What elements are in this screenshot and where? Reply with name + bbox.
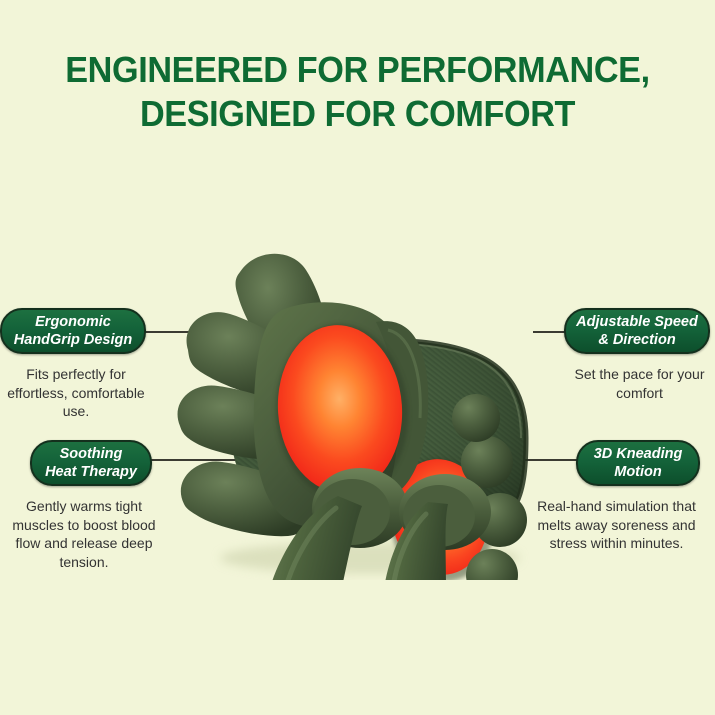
callout-label-heat[interactable]: Soothing Heat Therapy: [30, 440, 152, 486]
callout-label-handgrip[interactable]: Ergonomic HandGrip Design: [0, 308, 146, 354]
product-image-massage-pillow: [140, 190, 580, 580]
callout-speed: Adjustable Speed & Direction Set the pac…: [564, 308, 715, 402]
callout-heat: Soothing Heat Therapy Gently warms tight…: [18, 440, 152, 571]
callout-description-handgrip: Fits perfectly for effortless, comfortab…: [0, 365, 152, 421]
callout-label-kneading[interactable]: 3D Kneading Motion: [576, 440, 700, 486]
page-title: ENGINEERED FOR PERFORMANCE, DESIGNED FOR…: [0, 48, 715, 136]
callout-description-heat: Gently warms tight muscles to boost bloo…: [10, 497, 158, 571]
title-line-1: ENGINEERED FOR PERFORMANCE,: [18, 48, 697, 92]
callout-kneading: 3D Kneading Motion Real-hand simulation …: [576, 440, 706, 553]
callout-description-speed: Set the pace for your comfort: [564, 365, 715, 402]
callout-handgrip: Ergonomic HandGrip Design Fits perfectly…: [0, 308, 152, 421]
callout-label-speed[interactable]: Adjustable Speed & Direction: [564, 308, 710, 354]
infographic-root: ENGINEERED FOR PERFORMANCE, DESIGNED FOR…: [0, 0, 715, 715]
callout-description-kneading: Real-hand simulation that melts away sor…: [527, 497, 706, 553]
title-line-2: DESIGNED FOR COMFORT: [18, 92, 697, 136]
